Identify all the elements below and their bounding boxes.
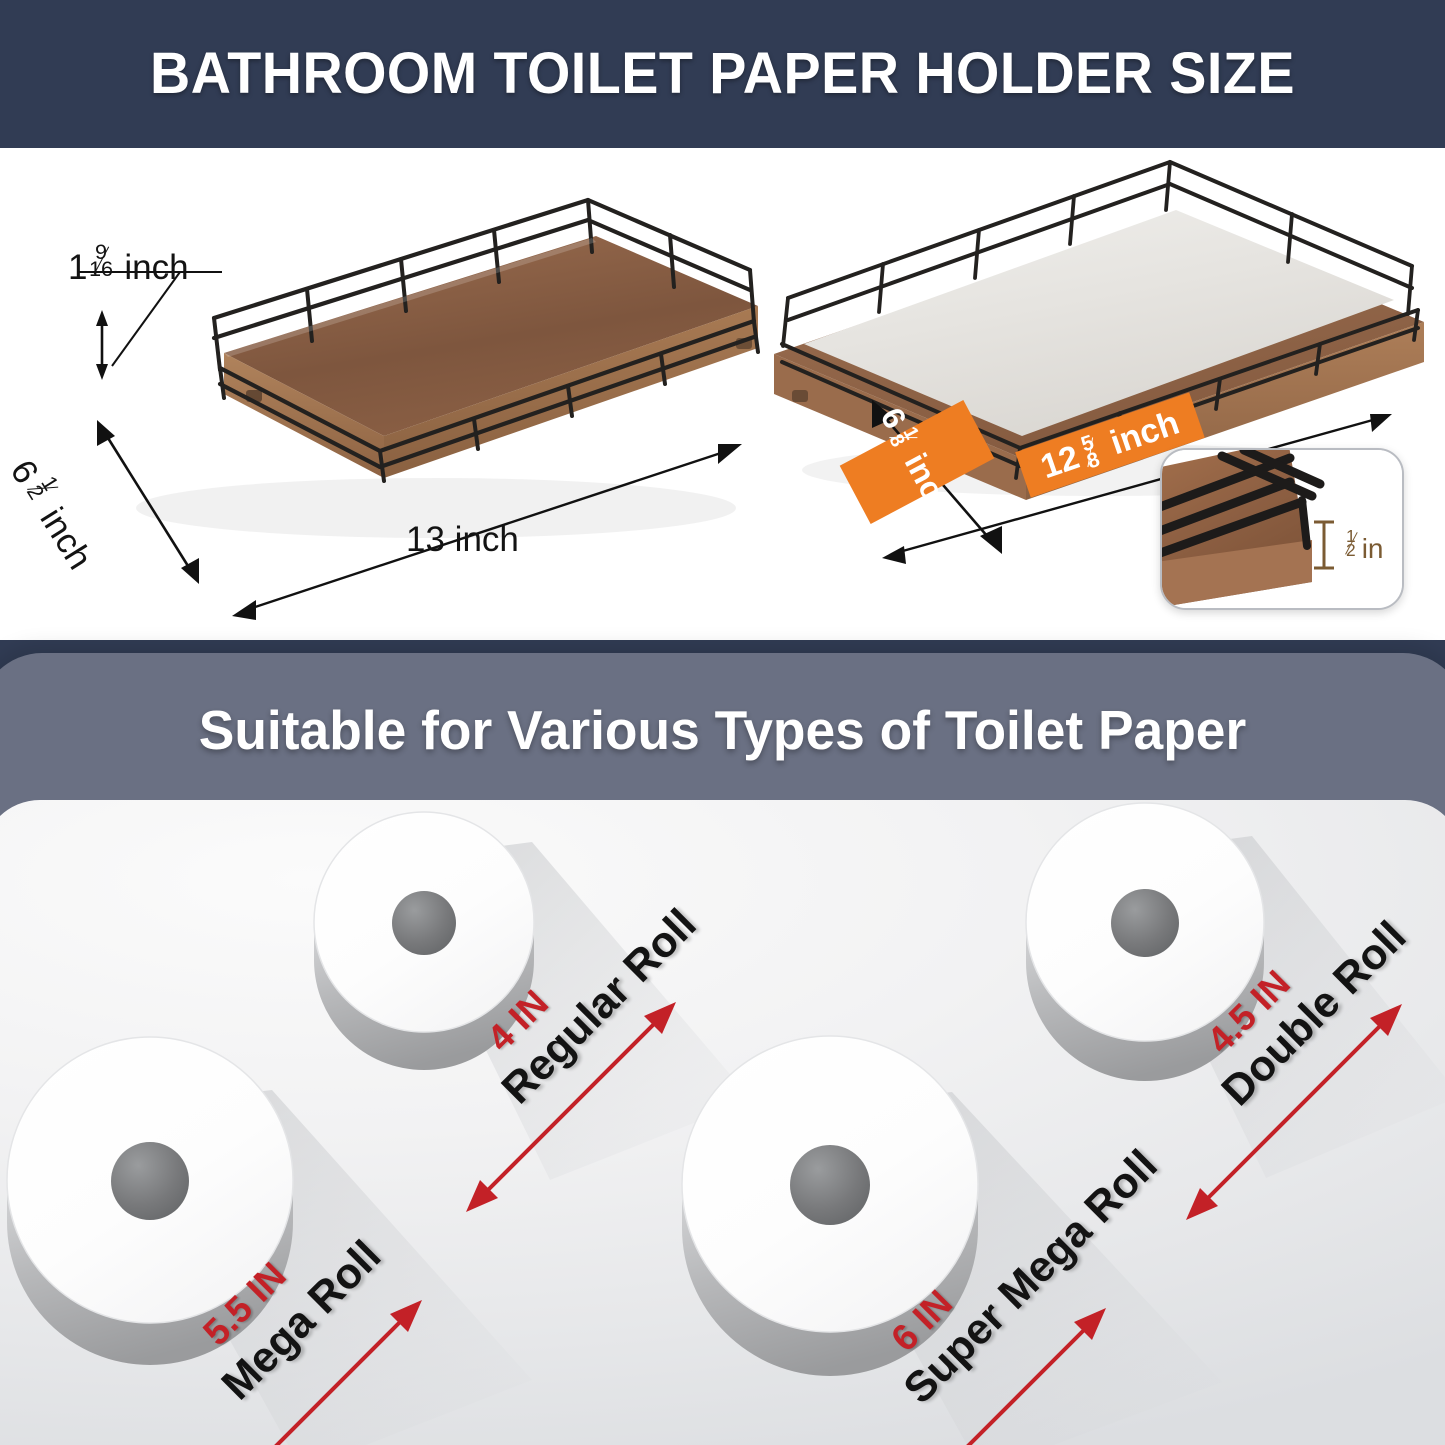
header-banner: BATHROOM TOILET PAPER HOLDER SIZE [0,0,1445,148]
dimensions-section: 1916 inch 612 inch 13 inch [0,148,1445,653]
rail-height-detail-card: 12in [1160,448,1404,610]
depth-dimension-arrow [75,412,215,602]
fraction-one-half-inset: 12 [1340,526,1362,561]
fraction-nine-sixteenths: 916 [87,238,114,281]
page-title: BATHROOM TOILET PAPER HOLDER SIZE [29,40,1416,107]
rolls-panel: 5.5 IN Mega Roll 4 IN Regular [0,800,1445,1445]
roll-double-arrow [1168,982,1428,1242]
rail-height-label: 12in [1340,526,1383,565]
section-title: Suitable for Various Types of Toilet Pap… [2,698,1442,762]
roll-super-mega-arrow [846,1280,1136,1445]
roll-double: 4.5 IN Double Roll [990,800,1445,1190]
dimension-label-length: 13 inch [406,520,519,560]
roll-mega-arrow [162,1272,452,1445]
infographic-root: BATHROOM TOILET PAPER HOLDER SIZE [0,0,1445,1445]
roll-compatibility-section: Suitable for Various Types of Toilet Pap… [0,640,1445,1445]
dimension-label-height: 1916 inch [68,238,189,288]
